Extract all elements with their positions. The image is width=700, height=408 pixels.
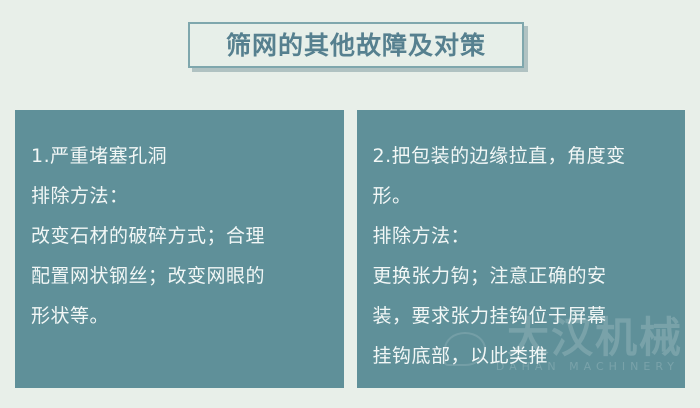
panels-container: 1.严重堵塞孔洞 排除方法： 改变石材的破碎方式；合理 配置网状钢丝；改变网眼的… — [15, 110, 685, 388]
text-line: 形状等。 — [31, 296, 326, 336]
text-line: 改变石材的破碎方式；合理 — [31, 216, 326, 256]
text-line: 装，要求张力挂钩位于屏幕 — [373, 296, 668, 336]
panel-left: 1.严重堵塞孔洞 排除方法： 改变石材的破碎方式；合理 配置网状钢丝；改变网眼的… — [15, 110, 344, 388]
text-line: 2.把包装的边缘拉直，角度变 — [373, 136, 668, 176]
text-line: 排除方法： — [373, 216, 668, 256]
panel-right-text: 2.把包装的边缘拉直，角度变 形。 排除方法： 更换张力钩；注意正确的安 装，要… — [373, 136, 668, 376]
text-line: 形。 — [373, 176, 668, 216]
panel-right: 2.把包装的边缘拉直，角度变 形。 排除方法： 更换张力钩；注意正确的安 装，要… — [357, 110, 686, 388]
panel-left-text: 1.严重堵塞孔洞 排除方法： 改变石材的破碎方式；合理 配置网状钢丝；改变网眼的… — [31, 136, 326, 336]
text-line: 挂钩底部，以此类推 — [373, 336, 668, 376]
text-line: 配置网状钢丝；改变网眼的 — [31, 256, 326, 296]
text-line: 1.严重堵塞孔洞 — [31, 136, 326, 176]
title-banner: 筛网的其他故障及对策 — [188, 22, 524, 68]
text-line: 更换张力钩；注意正确的安 — [373, 256, 668, 296]
page-title: 筛网的其他故障及对策 — [226, 33, 486, 58]
text-line: 排除方法： — [31, 176, 326, 216]
